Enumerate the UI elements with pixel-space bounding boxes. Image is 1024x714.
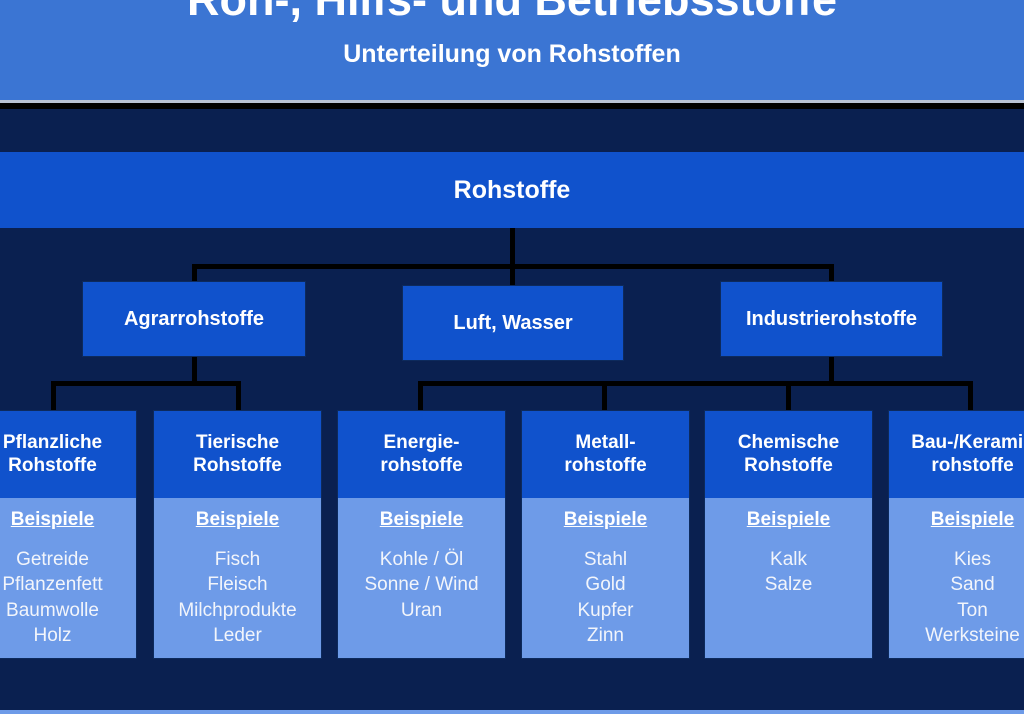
list-item: Getreide	[0, 547, 136, 572]
node-metallrohstoffe[interactable]: Metall- rohstoffe Beispiele Stahl Gold K…	[521, 410, 690, 659]
node-industrierohstoffe-label: Industrierohstoffe	[746, 308, 917, 331]
node-pflanzliche-rohstoffe-title: Pflanzliche Rohstoffe	[0, 411, 136, 498]
list-item: Holz	[0, 623, 136, 648]
node-energierohstoffe-title: Energie- rohstoffe	[338, 411, 505, 498]
node-bau-keramik-rohstoffe-body: Beispiele Kies Sand Ton Werksteine	[889, 498, 1024, 658]
examples-label: Beispiele	[0, 509, 136, 531]
node-tierische-rohstoffe[interactable]: Tierische Rohstoffe Beispiele Fisch Flei…	[153, 410, 322, 659]
node-bau-keramik-rohstoffe[interactable]: Bau-/Keramik rohstoffe Beispiele Kies Sa…	[888, 410, 1024, 659]
list-item: Kies	[889, 547, 1024, 572]
list-item: Milchprodukte	[154, 598, 321, 623]
node-energierohstoffe[interactable]: Energie- rohstoffe Beispiele Kohle / Öl …	[337, 410, 506, 659]
connector-drop-metall	[602, 381, 607, 412]
connector-root-stem	[510, 228, 515, 268]
node-luft-wasser[interactable]: Luft, Wasser	[402, 285, 624, 361]
node-energierohstoffe-body: Beispiele Kohle / Öl Sonne / Wind Uran	[338, 498, 505, 658]
connector-drop-chemische	[786, 381, 791, 412]
list-item: Kupfer	[522, 598, 689, 623]
node-luft-wasser-label: Luft, Wasser	[453, 312, 572, 335]
page-subtitle: Unterteilung von Rohstoffen	[0, 40, 1024, 69]
node-rohstoffe-label: Rohstoffe	[454, 176, 571, 205]
list-item: Werksteine	[889, 623, 1024, 648]
page-title: Roh-, Hilfs- und Betriebsstoffe	[0, 0, 1024, 26]
node-agrarrohstoffe[interactable]: Agrarrohstoffe	[82, 281, 306, 357]
connector-industrie-stem	[829, 357, 834, 383]
examples-label: Beispiele	[705, 509, 872, 531]
connector-drop-pflanzliche	[51, 381, 56, 412]
list-item: Kohle / Öl	[338, 547, 505, 572]
examples-label: Beispiele	[889, 509, 1024, 531]
node-chemische-rohstoffe[interactable]: Chemische Rohstoffe Beispiele Kalk Salze	[704, 410, 873, 659]
footer-strip	[0, 710, 1024, 714]
node-pflanzliche-rohstoffe[interactable]: Pflanzliche Rohstoffe Beispiele Getreide…	[0, 410, 137, 659]
list-item: Sand	[889, 572, 1024, 597]
connector-agrar-stem	[192, 357, 197, 383]
connector-agrar-bus	[51, 381, 241, 386]
connector-drop-bau	[968, 381, 973, 412]
list-item: Zinn	[522, 623, 689, 648]
node-metallrohstoffe-body: Beispiele Stahl Gold Kupfer Zinn	[522, 498, 689, 658]
list-item: Uran	[338, 598, 505, 623]
connector-drop-tierische	[236, 381, 241, 412]
list-item: Pflanzenfett	[0, 572, 136, 597]
diagram-canvas: Rohstoffe Agrarrohstoffe Luft, Wasser In…	[0, 109, 1024, 710]
list-item: Gold	[522, 572, 689, 597]
list-item: Baumwolle	[0, 598, 136, 623]
list-item: Sonne / Wind	[338, 572, 505, 597]
node-tierische-rohstoffe-body: Beispiele Fisch Fleisch Milchprodukte Le…	[154, 498, 321, 658]
node-industrierohstoffe[interactable]: Industrierohstoffe	[720, 281, 943, 357]
list-item: Kalk	[705, 547, 872, 572]
examples-label: Beispiele	[522, 509, 689, 531]
connector-drop-energie	[418, 381, 423, 412]
examples-label: Beispiele	[154, 509, 321, 531]
node-rohstoffe[interactable]: Rohstoffe	[0, 152, 1024, 228]
node-chemische-rohstoffe-body: Beispiele Kalk Salze	[705, 498, 872, 658]
slide-header: Roh-, Hilfs- und Betriebsstoffe Untertei…	[0, 0, 1024, 100]
list-item: Leder	[154, 623, 321, 648]
node-agrarrohstoffe-label: Agrarrohstoffe	[124, 308, 264, 331]
node-pflanzliche-rohstoffe-body: Beispiele Getreide Pflanzenfett Baumwoll…	[0, 498, 136, 658]
list-item: Ton	[889, 598, 1024, 623]
node-metallrohstoffe-title: Metall- rohstoffe	[522, 411, 689, 498]
node-chemische-rohstoffe-title: Chemische Rohstoffe	[705, 411, 872, 498]
connector-industrie-bus	[418, 381, 972, 386]
list-item: Stahl	[522, 547, 689, 572]
list-item: Fleisch	[154, 572, 321, 597]
node-tierische-rohstoffe-title: Tierische Rohstoffe	[154, 411, 321, 498]
list-item: Salze	[705, 572, 872, 597]
node-bau-keramik-rohstoffe-title: Bau-/Keramik rohstoffe	[889, 411, 1024, 498]
list-item: Fisch	[154, 547, 321, 572]
examples-label: Beispiele	[338, 509, 505, 531]
